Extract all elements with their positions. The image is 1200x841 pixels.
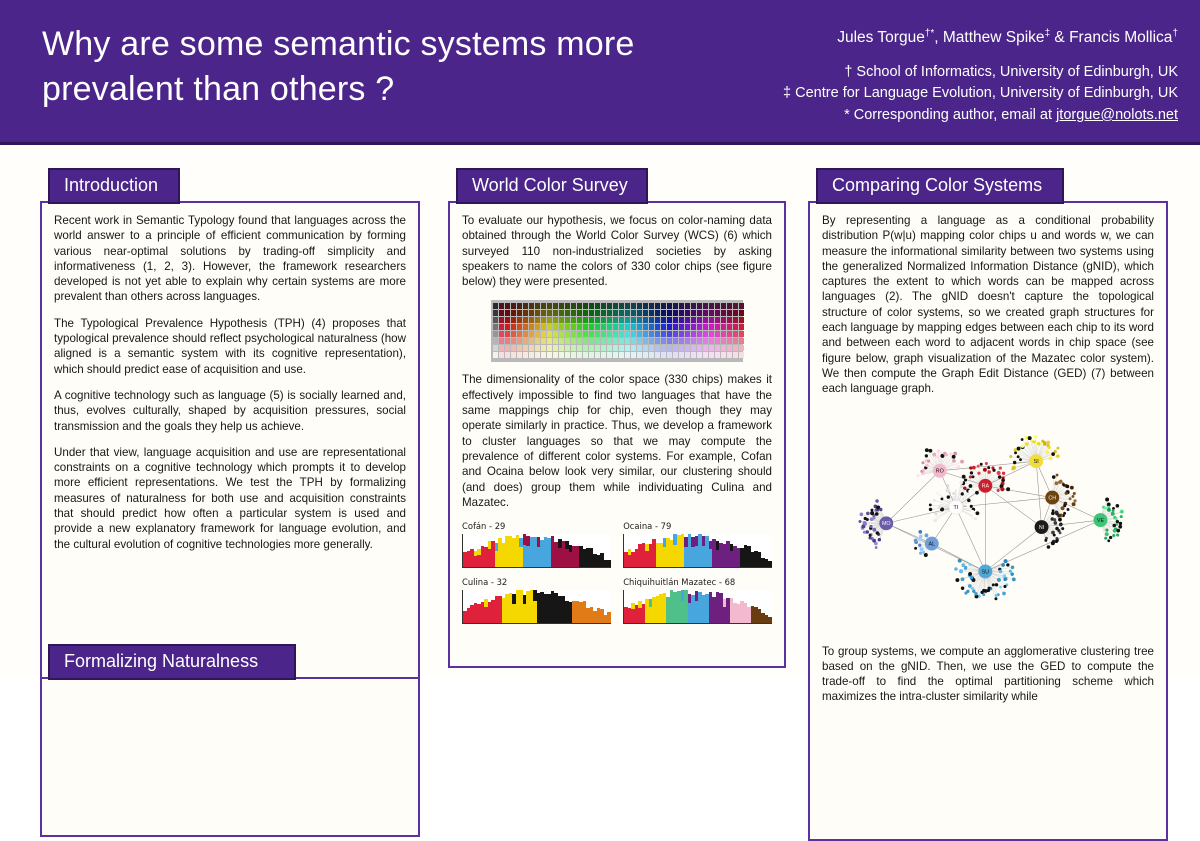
color-chip: [565, 352, 570, 358]
color-chip: [685, 303, 690, 309]
color-chip: [607, 331, 612, 337]
color-chip: [655, 338, 660, 344]
color-chip: [619, 317, 624, 323]
color-chip: [613, 352, 618, 358]
graph-leaf-node: [954, 486, 957, 489]
color-chip: [535, 310, 540, 316]
color-chip: [727, 345, 732, 351]
graph-leaf-node: [918, 530, 922, 534]
graph-hub-label: NI: [1039, 525, 1044, 531]
graph-leaf-node: [864, 516, 867, 519]
graph-leaf-node: [962, 489, 965, 492]
graph-leaf-node: [937, 502, 940, 505]
color-chip: [685, 310, 690, 316]
color-chip: [649, 345, 654, 351]
graph-leaf-node: [869, 534, 872, 537]
color-chip: [667, 352, 672, 358]
color-chip: [721, 324, 726, 330]
color-chip: [637, 310, 642, 316]
color-chip: [667, 324, 672, 330]
color-chip: [727, 324, 732, 330]
color-chip: [691, 324, 696, 330]
graph-leaf-node: [1006, 487, 1010, 491]
graph-leaf-node: [947, 495, 950, 498]
graph-leaf-node: [925, 463, 929, 467]
color-chip: [607, 310, 612, 316]
graph-leaf-node: [1111, 511, 1115, 515]
color-chip: [589, 345, 594, 351]
graph-leaf-node: [919, 551, 922, 554]
graph-hub-label: SI: [1034, 459, 1039, 465]
color-chip: [577, 338, 582, 344]
graph-leaf-node: [914, 546, 917, 549]
color-chip: [709, 338, 714, 344]
color-chip: [553, 331, 558, 337]
graph-leaf-node: [999, 466, 1002, 469]
color-chip: [571, 338, 576, 344]
color-chip: [517, 303, 522, 309]
color-chip: [535, 352, 540, 358]
color-chip: [739, 338, 744, 344]
affiliation-block: † School of Informatics, University of E…: [708, 62, 1178, 126]
color-chip: [619, 310, 624, 316]
color-chip: [577, 352, 582, 358]
color-chip: [613, 317, 618, 323]
color-chip: [697, 317, 702, 323]
graph-leaf-node: [969, 484, 973, 488]
color-chip: [583, 345, 588, 351]
graph-leaf-node: [949, 452, 952, 455]
graph-leaf-node: [1021, 444, 1024, 447]
color-chip: [733, 345, 738, 351]
graph-leaf-node: [1044, 538, 1047, 541]
color-chip: [619, 331, 624, 337]
wcs-paragraph-2: The dimensionality of the color space (3…: [462, 372, 772, 510]
color-chip: [727, 338, 732, 344]
graph-leaf-node: [941, 497, 944, 500]
graph-leaf-node: [1059, 523, 1062, 526]
graph-leaf-node: [992, 468, 995, 471]
color-chip: [709, 317, 714, 323]
color-chip: [577, 324, 582, 330]
color-chip: [637, 317, 642, 323]
color-chip: [595, 310, 600, 316]
graph-leaf-node: [971, 509, 974, 512]
color-chip: [697, 303, 702, 309]
graph-leaf-node: [872, 527, 876, 531]
color-chip: [733, 324, 738, 330]
color-chip: [553, 324, 558, 330]
chip-row: [493, 310, 741, 316]
graph-leaf-node: [1001, 563, 1005, 567]
color-chip: [637, 345, 642, 351]
graph-leaf-node: [935, 491, 938, 494]
language-map-segment: [583, 601, 587, 608]
panel-body-formalizing-naturalness: [40, 677, 420, 837]
page-title: Why are some semantic systems more preva…: [42, 22, 762, 112]
color-chip: [523, 303, 528, 309]
color-chip: [499, 310, 504, 316]
color-chip: [727, 303, 732, 309]
color-chip: [517, 345, 522, 351]
color-chip: [637, 303, 642, 309]
color-chip: [589, 331, 594, 337]
graph-leaf-node: [976, 511, 980, 515]
color-chip: [631, 310, 636, 316]
color-chip: [625, 331, 630, 337]
graph-leaf-node: [961, 586, 964, 589]
graph-leaf-node: [1056, 446, 1059, 449]
color-chip: [697, 324, 702, 330]
color-chip: [733, 331, 738, 337]
graph-leaf-node: [1003, 577, 1007, 581]
graph-leaf-node: [1059, 479, 1062, 482]
intro-paragraph-1: Recent work in Semantic Typology found t…: [54, 213, 406, 305]
color-chip: [505, 331, 510, 337]
color-chip: [547, 331, 552, 337]
color-chip: [625, 324, 630, 330]
graph-edge: [985, 527, 1041, 571]
color-chip: [505, 345, 510, 351]
graph-edge: [985, 461, 1036, 486]
color-chip: [721, 345, 726, 351]
color-chip: [541, 338, 546, 344]
graph-edge: [886, 470, 940, 522]
email-link[interactable]: jtorgue@nolots.net: [1056, 107, 1178, 123]
graph-leaf-node: [972, 465, 976, 469]
graph-leaf-nodes: [858, 435, 1123, 600]
color-chip: [631, 338, 636, 344]
color-chip: [709, 352, 714, 358]
color-chip: [601, 338, 606, 344]
comparing-paragraph-1: By representing a language as a conditio…: [822, 213, 1154, 397]
color-chip: [631, 324, 636, 330]
color-chip: [541, 310, 546, 316]
color-chip: [721, 317, 726, 323]
color-chip: [739, 352, 744, 358]
color-chip: [553, 345, 558, 351]
color-chip: [517, 331, 522, 337]
color-chip: [733, 338, 738, 344]
color-chip: [541, 331, 546, 337]
graph-leaf-node: [938, 505, 941, 508]
graph-leaf-node: [1037, 442, 1041, 446]
color-chip: [691, 303, 696, 309]
color-chip: [637, 331, 642, 337]
chip-achromatic: [493, 331, 498, 337]
graph-leaf-node: [960, 484, 964, 488]
color-chip: [613, 345, 618, 351]
color-chip: [589, 317, 594, 323]
graph-leaf-node: [1019, 458, 1022, 461]
comparing-paragraph-2: To group systems, we compute an agglomer…: [822, 644, 1154, 705]
graph-leaf-node: [863, 530, 866, 533]
color-chip: [715, 345, 720, 351]
graph-leaf-node: [967, 498, 971, 502]
color-chip: [649, 310, 654, 316]
graph-leaf-node: [932, 452, 936, 456]
graph-leaf-node: [999, 585, 1002, 588]
color-chip: [721, 310, 726, 316]
graph-edge: [985, 485, 1052, 497]
color-chip: [685, 345, 690, 351]
color-chip: [703, 303, 708, 309]
color-chip: [595, 331, 600, 337]
graph-leaf-node: [997, 471, 1001, 475]
color-chip: [631, 345, 636, 351]
graph-leaf-node: [969, 562, 972, 565]
graph-leaf-node: [1065, 491, 1068, 494]
language-map-segment: [768, 561, 772, 563]
graph-leaf-node: [1047, 545, 1051, 549]
color-chip: [667, 317, 672, 323]
graph-leaf-node: [985, 462, 988, 465]
color-chip: [649, 324, 654, 330]
color-chip: [619, 338, 624, 344]
graph-leaf-node: [998, 475, 1002, 479]
color-chip: [511, 310, 516, 316]
graph-leaf-node: [952, 491, 955, 494]
color-chip: [565, 345, 570, 351]
color-chip: [697, 352, 702, 358]
graph-leaf-node: [1033, 440, 1036, 443]
color-chip: [535, 338, 540, 344]
graph-leaf-node: [1002, 591, 1006, 595]
graph-leaf-node: [970, 471, 973, 474]
graph-leaf-node: [1107, 507, 1111, 511]
color-chip: [613, 331, 618, 337]
graph-leaf-node: [1021, 438, 1024, 441]
color-chip: [697, 331, 702, 337]
color-chip: [601, 352, 606, 358]
graph-leaf-node: [1061, 506, 1065, 510]
graph-leaf-node: [951, 462, 954, 465]
color-chip: [577, 303, 582, 309]
color-chip: [667, 338, 672, 344]
graph-leaf-node: [1053, 533, 1056, 536]
color-chip: [565, 324, 570, 330]
color-chip: [655, 324, 660, 330]
color-chip: [565, 331, 570, 337]
color-chip: [571, 352, 576, 358]
affiliation-2: ‡ Centre for Language Evolution, Univers…: [708, 83, 1178, 104]
color-chip: [691, 331, 696, 337]
color-chip: [631, 317, 636, 323]
language-map-column: [607, 560, 611, 567]
color-chip: [541, 303, 546, 309]
graph-leaf-node: [1105, 528, 1108, 531]
graph-leaf-node: [876, 531, 879, 534]
graph-leaf-node: [869, 524, 872, 527]
color-chip: [547, 352, 552, 358]
color-chip: [553, 338, 558, 344]
graph-leaf-node: [920, 547, 924, 551]
graph-leaf-node: [997, 488, 1000, 491]
panel-heading-world-color-survey: World Color Survey: [456, 168, 648, 204]
color-chip: [643, 338, 648, 344]
color-chip: [733, 310, 738, 316]
color-chip: [523, 331, 528, 337]
graph-hub-nodes: ROSIRACHTIMONIVEALSU: [879, 454, 1107, 578]
color-chip: [601, 345, 606, 351]
graph-leaf-node: [1061, 527, 1064, 530]
language-map: Chiquihuitlán Mazatec - 68: [623, 577, 772, 624]
color-chip: [685, 331, 690, 337]
graph-leaf-node: [918, 543, 921, 546]
color-chip: [517, 352, 522, 358]
color-chip: [673, 324, 678, 330]
color-chip: [685, 352, 690, 358]
graph-leaf-node: [1057, 514, 1060, 517]
graph-leaf-node: [1003, 584, 1006, 587]
color-chip: [505, 303, 510, 309]
graph-leaf-node: [927, 459, 930, 462]
graph-leaf-node: [961, 563, 965, 567]
graph-leaf-node: [875, 512, 879, 516]
color-chip: [577, 345, 582, 351]
color-chip: [715, 331, 720, 337]
color-chip: [655, 345, 660, 351]
language-map-plot: [623, 590, 772, 624]
color-chip: [583, 310, 588, 316]
color-chip: [529, 310, 534, 316]
color-chip: [709, 345, 714, 351]
graph-leaf-node: [969, 475, 972, 478]
graph-leaf-node: [1051, 452, 1055, 456]
color-chip: [673, 331, 678, 337]
color-chip: [661, 324, 666, 330]
graph-leaf-node: [977, 464, 980, 467]
graph-leaf-node: [995, 583, 998, 586]
color-chip: [583, 331, 588, 337]
graph-leaf-node: [858, 520, 861, 523]
color-chip: [649, 352, 654, 358]
graph-leaf-node: [968, 489, 971, 492]
color-chip: [595, 324, 600, 330]
graph-leaf-node: [933, 498, 936, 501]
graph-leaf-node: [1105, 532, 1109, 536]
color-chip: [565, 338, 570, 344]
color-chip: [607, 303, 612, 309]
color-chip: [499, 352, 504, 358]
color-chip: [721, 303, 726, 309]
color-chip: [595, 345, 600, 351]
graph-leaf-node: [1012, 577, 1016, 581]
graph-leaf-node: [1112, 534, 1115, 537]
graph-leaf-node: [1058, 517, 1062, 521]
graph-leaf-node: [971, 587, 974, 590]
graph-leaf-node: [925, 454, 928, 457]
graph-leaf-node: [1116, 533, 1119, 536]
color-chip: [535, 317, 540, 323]
color-chip: [547, 324, 552, 330]
color-chip: [721, 352, 726, 358]
color-chip: [655, 317, 660, 323]
graph-leaf-node: [863, 521, 867, 525]
chip-row: [493, 317, 741, 323]
network-graph-svg: ROSIRACHTIMONIVEALSU: [822, 408, 1154, 630]
corresponding-author-prefix: * Corresponding author, email at: [844, 107, 1056, 123]
language-map-label: Chiquihuitlán Mazatec - 68: [623, 577, 772, 587]
color-chip: [739, 310, 744, 316]
graph-leaf-node: [1043, 442, 1046, 445]
color-chip: [535, 303, 540, 309]
graph-leaf-node: [1112, 509, 1115, 512]
color-chip: [529, 352, 534, 358]
graph-leaf-node: [962, 474, 966, 478]
graph-leaf-node: [1051, 541, 1055, 545]
color-chip: [649, 338, 654, 344]
graph-leaf-node: [959, 569, 963, 573]
graph-leaf-node: [1053, 521, 1057, 525]
color-chip: [511, 345, 516, 351]
color-chip: [673, 338, 678, 344]
graph-leaf-node: [1014, 448, 1017, 451]
graph-leaf-node: [1116, 520, 1119, 523]
wcs-paragraph-1: To evaluate our hypothesis, we focus on …: [462, 213, 772, 289]
color-chip: [607, 338, 612, 344]
color-chip: [697, 338, 702, 344]
color-chip: [583, 324, 588, 330]
graph-leaf-node: [1121, 510, 1124, 513]
graph-leaf-node: [1055, 510, 1059, 514]
color-chip: [577, 310, 582, 316]
graph-leaf-node: [958, 558, 962, 562]
chip-row: [493, 345, 741, 351]
color-chip: [637, 338, 642, 344]
graph-leaf-node: [860, 512, 864, 516]
color-chip: [679, 324, 684, 330]
graph-leaf-node: [1009, 455, 1012, 458]
graph-leaf-node: [1046, 440, 1050, 444]
graph-leaf-node: [929, 507, 932, 510]
color-chip: [505, 317, 510, 323]
color-chip: [691, 310, 696, 316]
graph-leaf-node: [952, 459, 956, 463]
color-chip: [637, 324, 642, 330]
graph-leaf-node: [1017, 446, 1021, 450]
affiliation-3: * Corresponding author, email at jtorgue…: [708, 105, 1178, 126]
language-map-grid: Cofán - 29Ocaina - 79Culina - 32Chiquihu…: [462, 521, 772, 633]
graph-leaf-node: [1113, 528, 1117, 532]
color-chip: [523, 345, 528, 351]
color-chip: [661, 352, 666, 358]
color-chip: [643, 317, 648, 323]
chip-achromatic: [493, 303, 498, 309]
color-chip: [715, 317, 720, 323]
graph-leaf-node: [1054, 481, 1058, 485]
color-chip: [733, 352, 738, 358]
color-chip: [523, 338, 528, 344]
graph-leaf-node: [1105, 497, 1109, 501]
chip-row: [493, 303, 741, 309]
color-chip: [709, 331, 714, 337]
graph-leaf-node: [1109, 535, 1112, 538]
color-chip: [499, 317, 504, 323]
color-chip: [637, 352, 642, 358]
graph-leaf-node: [1002, 471, 1005, 474]
color-chip: [511, 324, 516, 330]
color-chip: [583, 303, 588, 309]
poster-header: Why are some semantic systems more preva…: [0, 0, 1200, 145]
graph-leaf-node: [1107, 539, 1110, 542]
color-chip: [709, 310, 714, 316]
color-chip: [625, 345, 630, 351]
color-chip: [517, 324, 522, 330]
language-map-segment: [768, 563, 772, 567]
color-chip: [613, 303, 618, 309]
color-chip: [685, 317, 690, 323]
